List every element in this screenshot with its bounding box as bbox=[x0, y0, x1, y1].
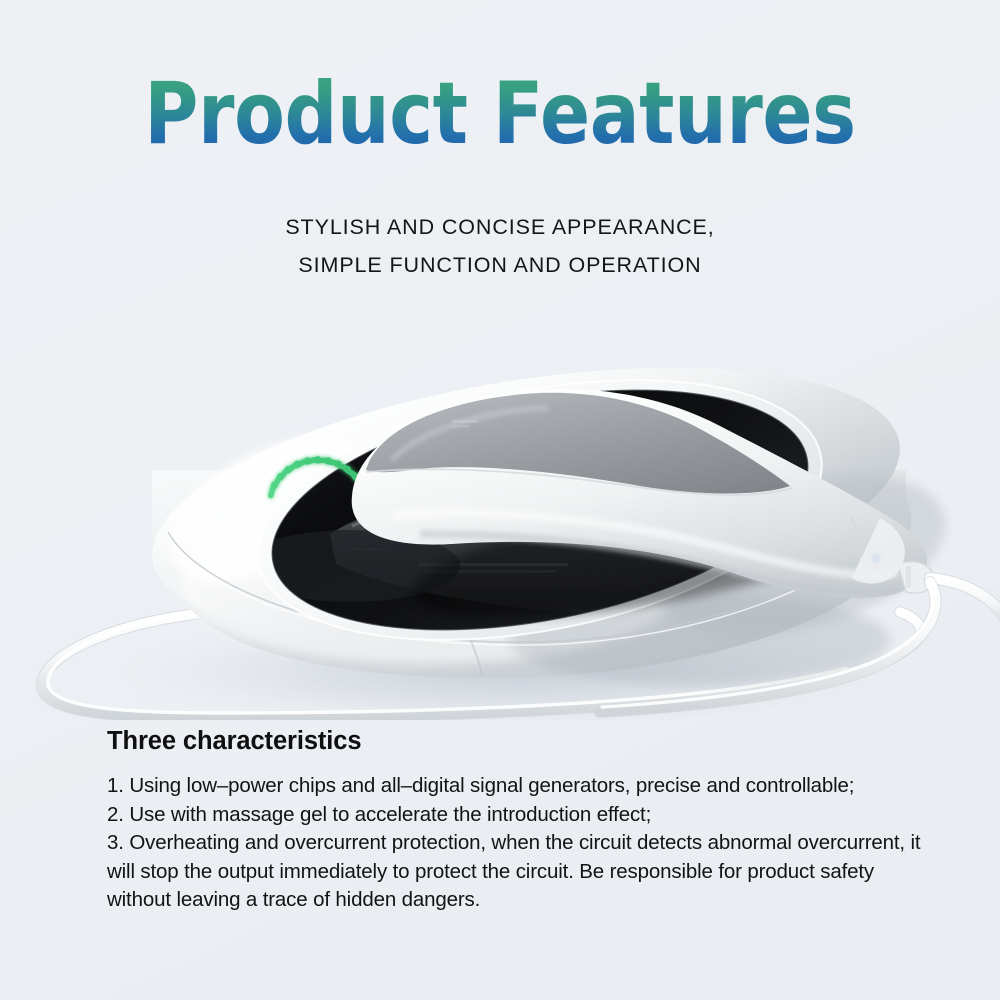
feature-item-2: 2. Use with massage gel to accelerate th… bbox=[107, 801, 932, 830]
features-list: 1. Using low–power chips and all–digital… bbox=[100, 772, 932, 915]
subtitle-line-2: SIMPLE FUNCTION AND OPERATION bbox=[0, 246, 1000, 284]
product-image bbox=[0, 320, 1000, 720]
feature-item-3: 3. Overheating and overcurrent protectio… bbox=[107, 829, 932, 915]
feature-item-1: 1. Using low–power chips and all–digital… bbox=[107, 772, 932, 801]
product-features-page: Product Features STYLISH AND CONCISE APP… bbox=[0, 0, 1000, 1000]
features-heading: Three characteristics bbox=[107, 724, 932, 758]
page-subtitle: STYLISH AND CONCISE APPEARANCE, SIMPLE F… bbox=[0, 208, 1000, 284]
features-section: Three characteristics 1. Using low–power… bbox=[100, 724, 932, 915]
page-title: Product Features bbox=[70, 66, 930, 162]
product-illustration bbox=[0, 320, 1000, 720]
subtitle-line-1: STYLISH AND CONCISE APPEARANCE, bbox=[0, 208, 1000, 246]
